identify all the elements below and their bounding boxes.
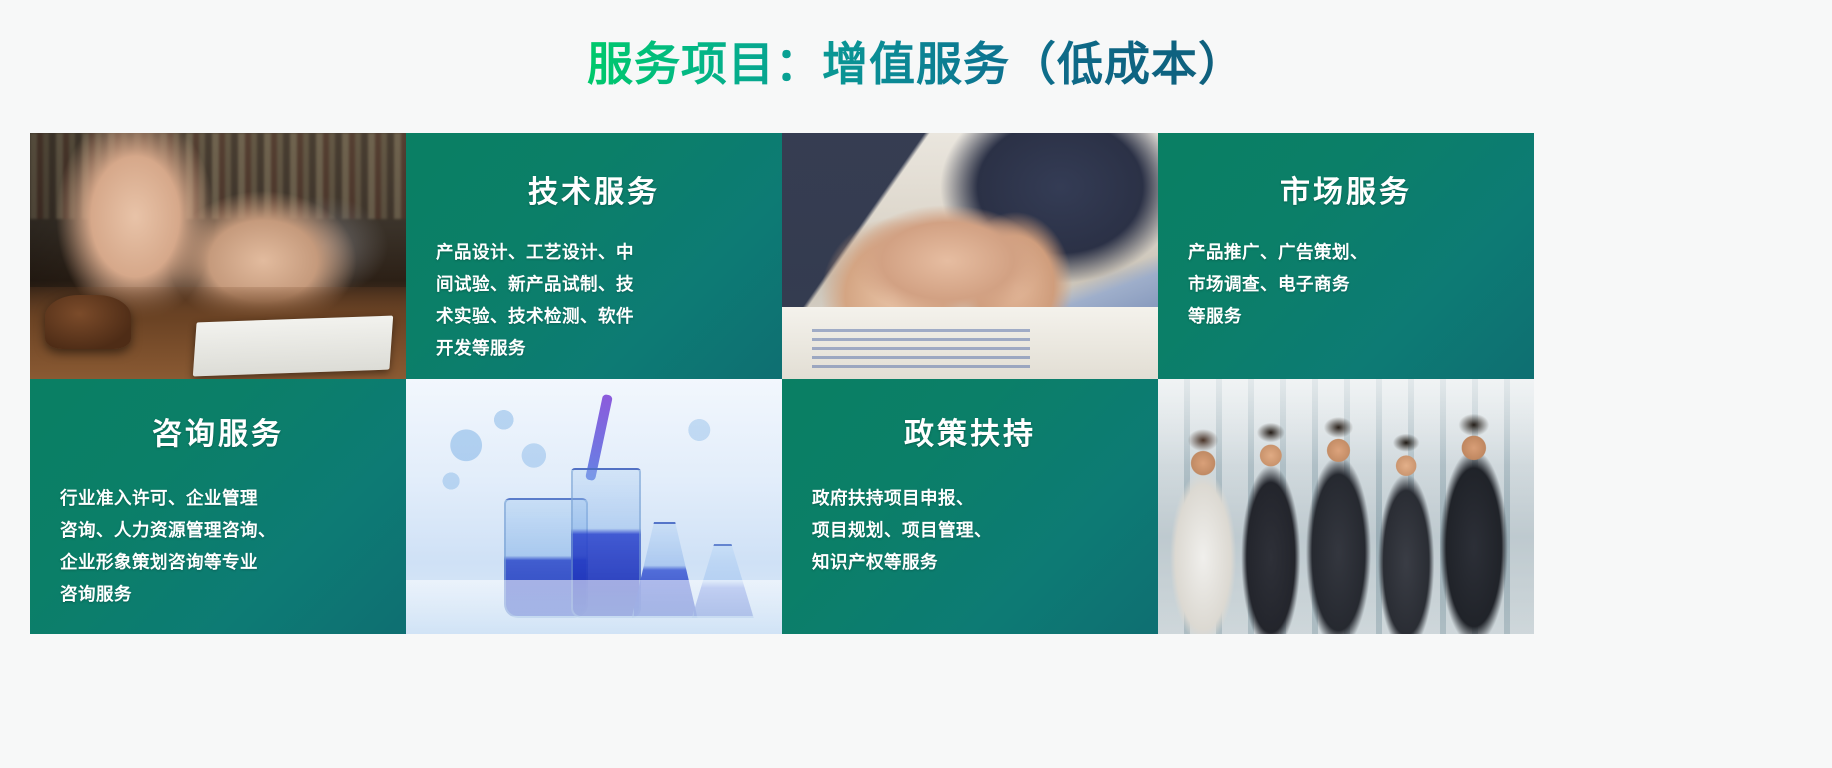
desc-line: 等服务 bbox=[1188, 301, 1504, 333]
desc-line: 产品推广、广告策划、 bbox=[1188, 237, 1504, 269]
desc-line: 产品设计、工艺设计、中 bbox=[436, 237, 752, 269]
desc-line: 咨询、人力资源管理咨询、 bbox=[60, 515, 376, 547]
panel-desc-technical-service: 产品设计、工艺设计、中 间试验、新产品试制、技 术实验、技术检测、软件 开发等服… bbox=[436, 237, 752, 365]
panel-desc-policy-support: 政府扶持项目申报、 项目规划、项目管理、 知识产权等服务 bbox=[812, 483, 1128, 579]
page-header: 服务项目：增值服务（低成本） bbox=[0, 0, 1832, 122]
reflection-shape bbox=[406, 580, 782, 634]
panel-title-technical-service: 技术服务 bbox=[436, 167, 752, 211]
desc-line: 政府扶持项目申报、 bbox=[812, 483, 1128, 515]
photo-business-team-handshake bbox=[1158, 379, 1534, 634]
photo-thumbs-up-handshake bbox=[782, 133, 1158, 379]
panel-technical-service: 技术服务 产品设计、工艺设计、中 间试验、新产品试制、技 术实验、技术检测、软件… bbox=[406, 133, 782, 379]
panel-desc-consulting-service: 行业准入许可、企业管理 咨询、人力资源管理咨询、 企业形象策划咨询等专业 咨询服… bbox=[60, 483, 376, 611]
photo-lab-glassware bbox=[406, 379, 782, 634]
panel-market-service: 市场服务 产品推广、广告策划、 市场调查、电子商务 等服务 bbox=[1158, 133, 1534, 379]
panel-consulting-service: 咨询服务 行业准入许可、企业管理 咨询、人力资源管理咨询、 企业形象策划咨询等专… bbox=[30, 379, 406, 634]
chart-paper-shape bbox=[812, 329, 1030, 369]
desc-line: 知识产权等服务 bbox=[812, 547, 1128, 579]
photo-lawyer-handshake bbox=[30, 133, 406, 379]
desc-line: 市场调查、电子商务 bbox=[1188, 269, 1504, 301]
panel-desc-market-service: 产品推广、广告策划、 市场调查、电子商务 等服务 bbox=[1188, 237, 1504, 333]
service-grid: 技术服务 产品设计、工艺设计、中 间试验、新产品试制、技 术实验、技术检测、软件… bbox=[30, 133, 1534, 634]
hair-shape bbox=[1158, 379, 1534, 634]
desc-line: 开发等服务 bbox=[436, 333, 752, 365]
desc-line: 咨询服务 bbox=[60, 579, 376, 611]
panel-title-consulting-service: 咨询服务 bbox=[60, 409, 376, 453]
desc-line: 企业形象策划咨询等专业 bbox=[60, 547, 376, 579]
service-items-page: 服务项目：增值服务（低成本） 技术服务 产品设计、工艺设计、中 间试验、新产品试… bbox=[0, 0, 1832, 768]
panel-policy-support: 政策扶持 政府扶持项目申报、 项目规划、项目管理、 知识产权等服务 bbox=[782, 379, 1158, 634]
gavel-icon bbox=[45, 295, 131, 349]
desc-line: 术实验、技术检测、软件 bbox=[436, 301, 752, 333]
document-shape bbox=[193, 316, 393, 377]
panel-title-market-service: 市场服务 bbox=[1188, 167, 1504, 211]
page-title: 服务项目：增值服务（低成本） bbox=[587, 28, 1245, 94]
panel-title-policy-support: 政策扶持 bbox=[812, 409, 1128, 453]
desc-line: 间试验、新产品试制、技 bbox=[436, 269, 752, 301]
desc-line: 行业准入许可、企业管理 bbox=[60, 483, 376, 515]
desc-line: 项目规划、项目管理、 bbox=[812, 515, 1128, 547]
